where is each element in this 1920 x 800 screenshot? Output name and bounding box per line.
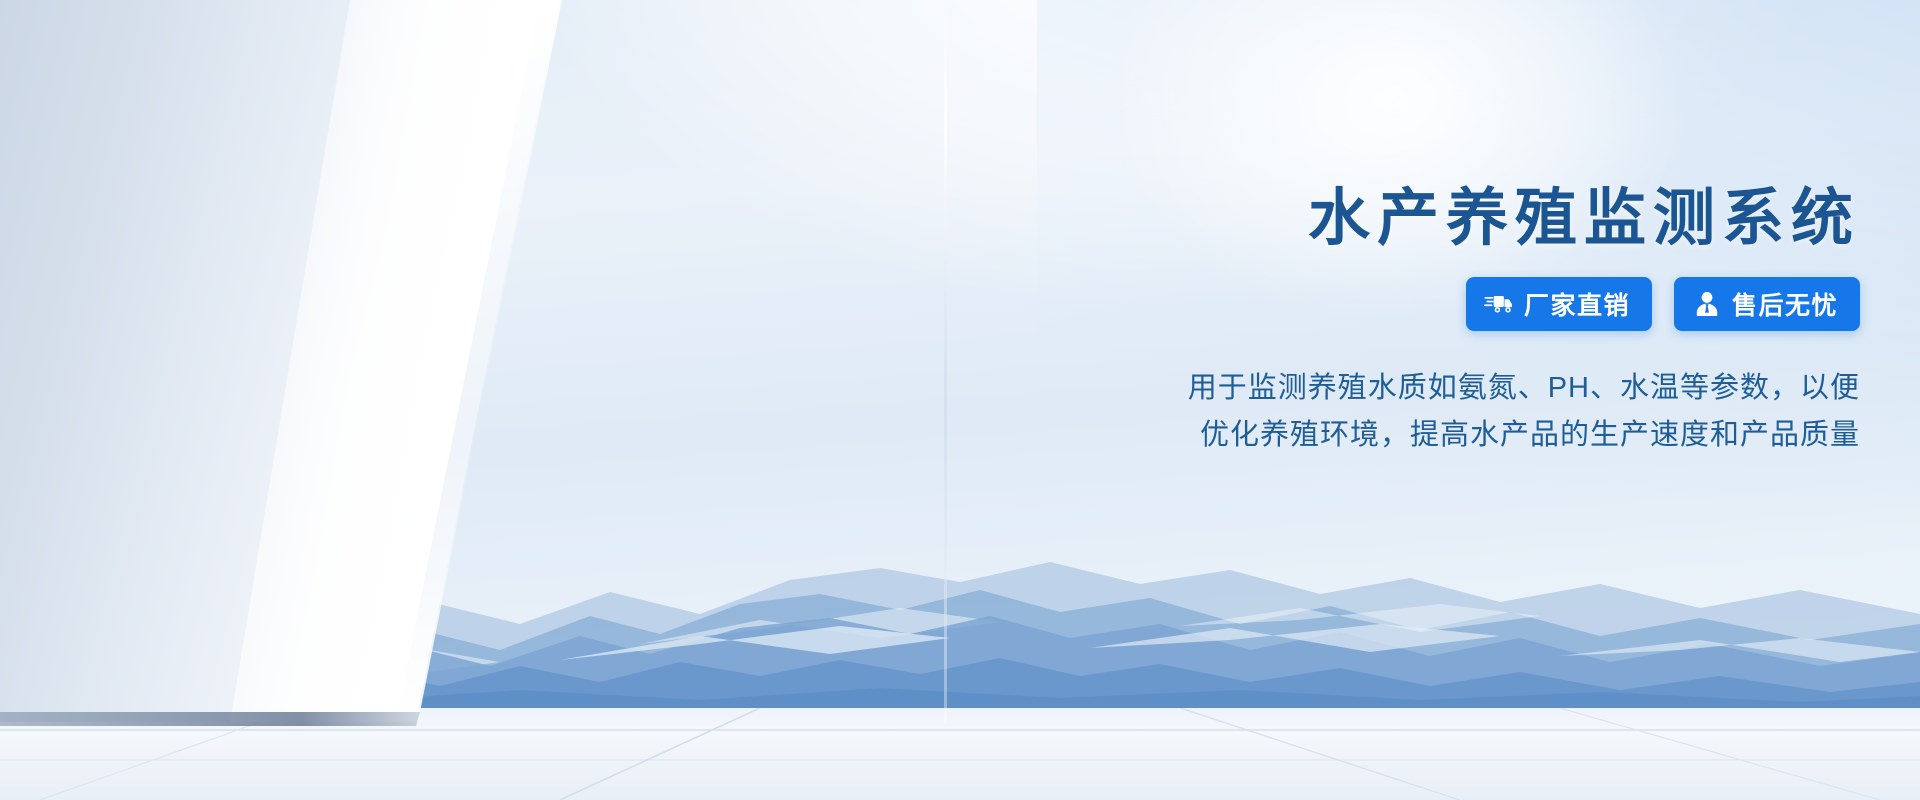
banner-description: 用于监测养殖水质如氨氮、PH、水温等参数，以便 优化养殖环境，提高水产品的生产速…	[1048, 365, 1860, 459]
badge-factory-direct-label: 厂家直销	[1524, 286, 1630, 322]
banner-content: 水产养殖监测系统 厂家直销	[1048, 186, 1860, 459]
badge-after-sales[interactable]: 售后无忧	[1674, 277, 1860, 331]
customer-service-person-icon	[1692, 291, 1722, 317]
hero-banner: 水产养殖监测系统 厂家直销	[0, 0, 1920, 800]
banner-title: 水产养殖监测系统	[1048, 186, 1860, 251]
delivery-truck-icon	[1484, 291, 1514, 317]
badge-factory-direct[interactable]: 厂家直销	[1466, 277, 1652, 331]
left-panel-base-shadow	[0, 712, 430, 726]
badge-after-sales-label: 售后无忧	[1732, 286, 1838, 322]
glass-seam	[944, 0, 947, 724]
description-line-1: 用于监测养殖水质如氨氮、PH、水温等参数，以便	[1048, 365, 1860, 412]
feature-badges: 厂家直销 售后无忧	[1048, 277, 1860, 331]
description-line-2: 优化养殖环境，提高水产品的生产速度和产品质量	[1048, 412, 1860, 459]
